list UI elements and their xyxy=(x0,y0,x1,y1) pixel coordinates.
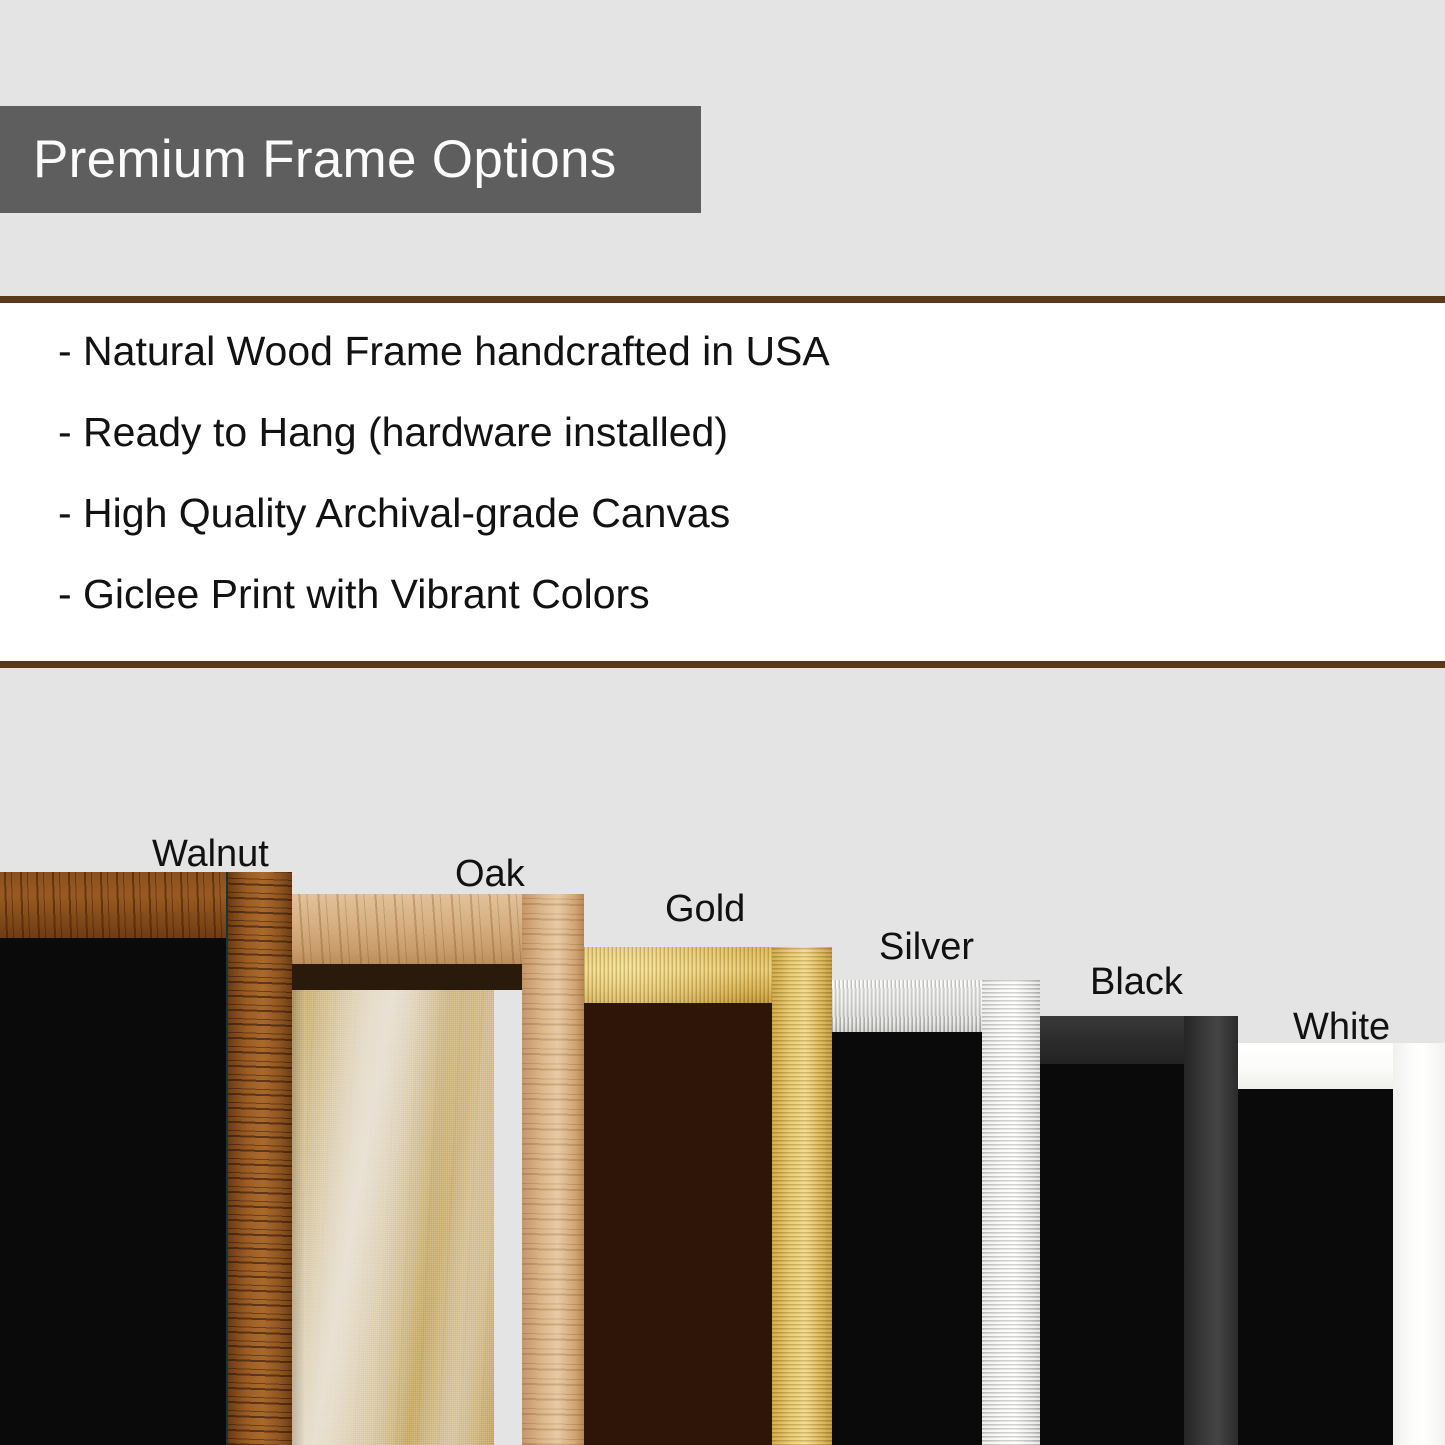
frame-rail-side xyxy=(226,872,292,1445)
feature-item: - Ready to Hang (hardware installed) xyxy=(58,412,1445,453)
frame-label-walnut: Walnut xyxy=(152,835,269,873)
frame-rail-side xyxy=(1184,1016,1238,1445)
feature-item: - Giclee Print with Vibrant Colors xyxy=(58,574,1445,615)
canvas-artwork xyxy=(284,986,494,1445)
frame-label-white: White xyxy=(1293,1008,1390,1046)
feature-item: - High Quality Archival-grade Canvas xyxy=(58,493,1445,534)
features-panel: - Natural Wood Frame handcrafted in USA … xyxy=(0,296,1445,668)
float-gap xyxy=(0,938,226,1445)
frame-label-gold: Gold xyxy=(665,890,745,928)
frame-rail-side xyxy=(1393,1043,1445,1445)
product-infographic: Premium Frame Options - Natural Wood Fra… xyxy=(0,0,1445,1445)
frame-sample-oak[interactable] xyxy=(284,894,584,1445)
frame-sample-walnut[interactable] xyxy=(0,872,292,1445)
frame-label-black: Black xyxy=(1090,963,1183,1001)
float-gap xyxy=(284,964,522,990)
feature-item: - Natural Wood Frame handcrafted in USA xyxy=(58,331,1445,372)
frames-showcase: Walnut Oak Gold Silver Black White xyxy=(0,668,1445,1445)
frame-label-oak: Oak xyxy=(455,855,525,893)
frame-label-silver: Silver xyxy=(879,928,974,966)
frame-rail-side xyxy=(522,894,584,1445)
page-title: Premium Frame Options xyxy=(0,133,617,186)
features-list: - Natural Wood Frame handcrafted in USA … xyxy=(0,303,1445,615)
frame-rail-side xyxy=(772,947,832,1445)
frame-rail-side xyxy=(982,980,1040,1445)
header-banner: Premium Frame Options xyxy=(0,106,701,213)
